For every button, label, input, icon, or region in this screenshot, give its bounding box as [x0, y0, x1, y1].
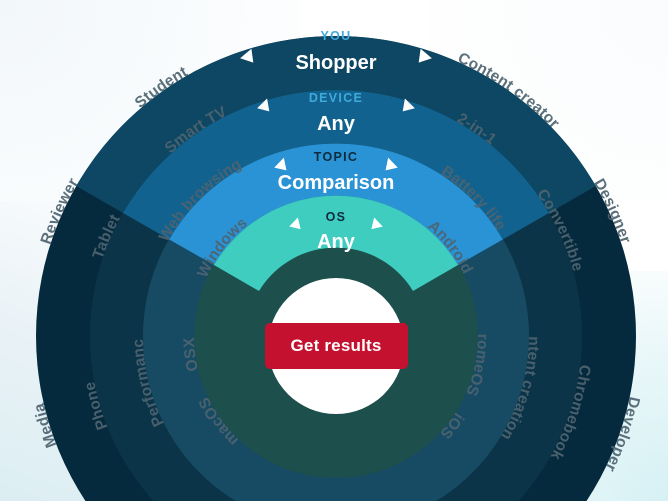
ring-topic-selected-value[interactable]: Comparison	[278, 172, 395, 194]
center-hub: Get results	[268, 278, 404, 414]
ring-topic-header: TOPIC	[314, 150, 358, 164]
ring-device-selected-value[interactable]: Any	[317, 113, 356, 135]
radial-selector-widget: Student Reviewer Media Content creator D…	[0, 0, 668, 501]
get-results-button[interactable]: Get results	[265, 323, 408, 369]
ring-you-header: YOU	[321, 29, 352, 43]
ring-os-selected-value[interactable]: Any	[317, 231, 356, 253]
ring-device-header: DEVICE	[309, 91, 363, 105]
ring-os-header: OS	[326, 210, 347, 224]
radial-wheel[interactable]: Student Reviewer Media Content creator D…	[0, 0, 668, 501]
ring-you-selected-value[interactable]: Shopper	[295, 52, 376, 74]
